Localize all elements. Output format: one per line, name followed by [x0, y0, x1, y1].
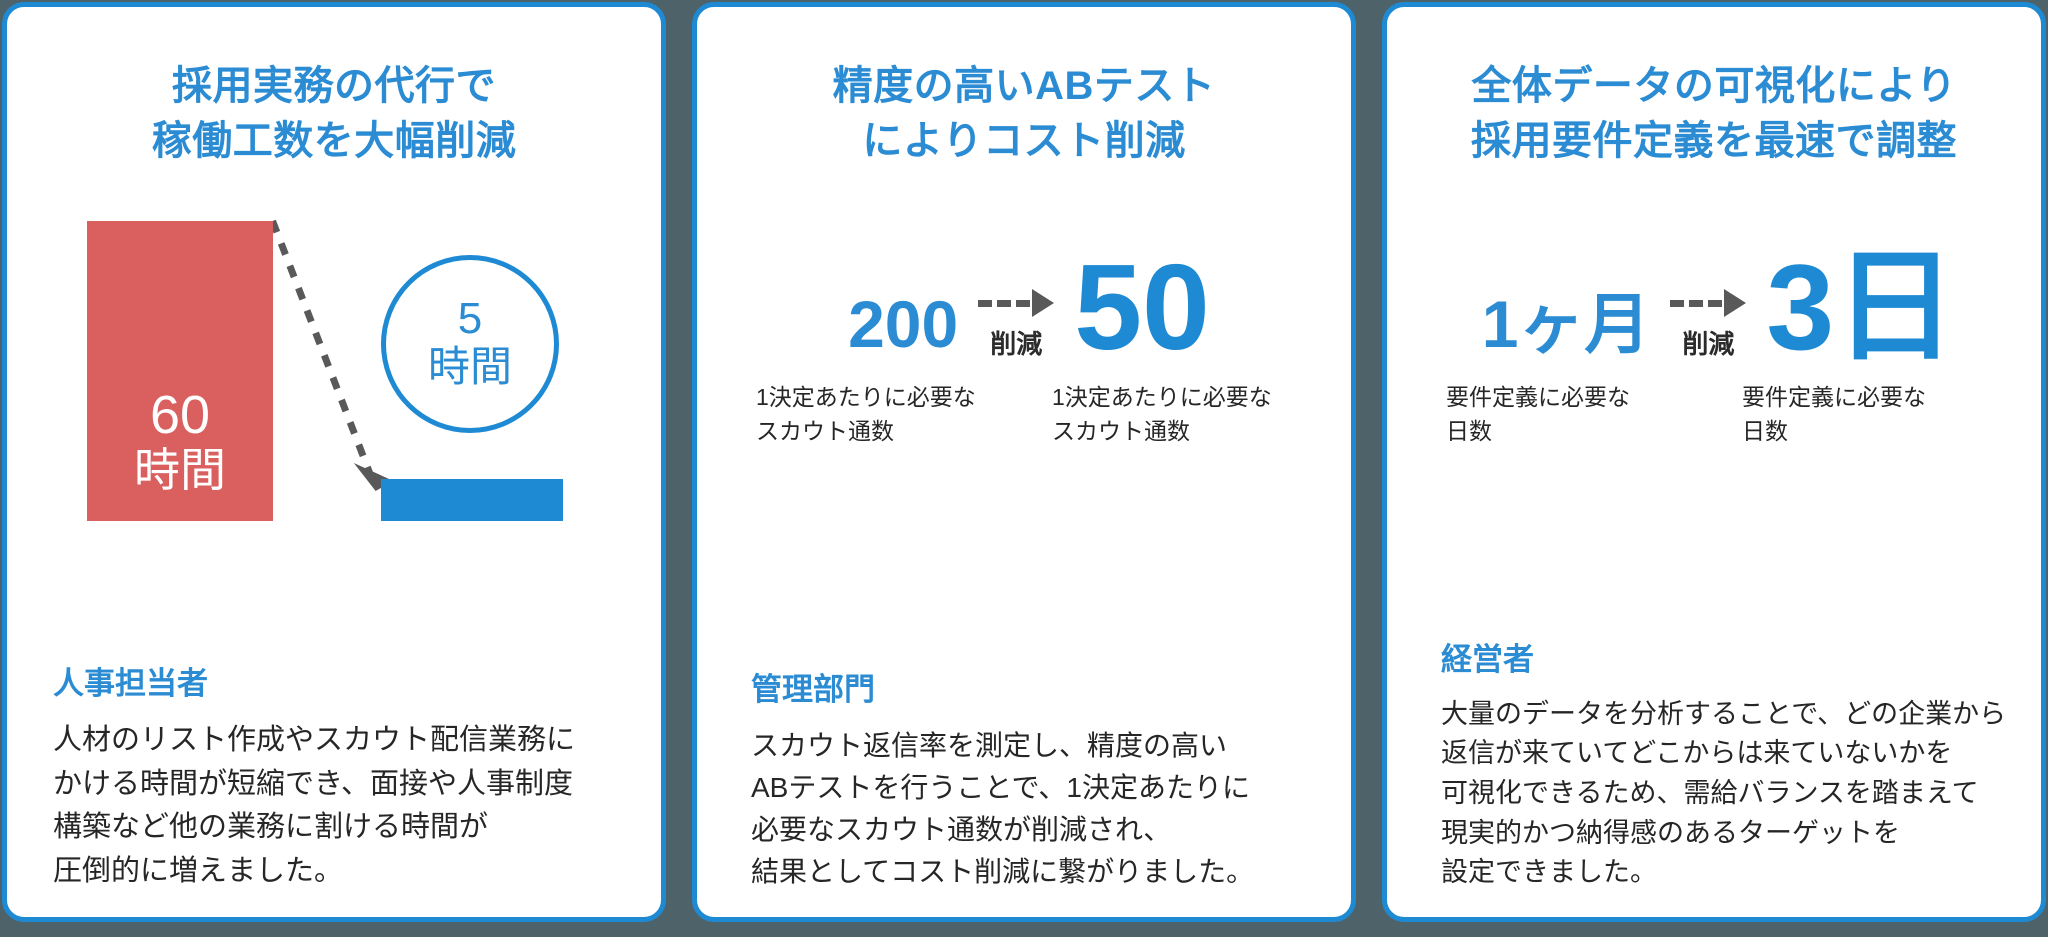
before-unit: 時間 [134, 442, 226, 500]
card-footer: 管理部門 スカウト返信率を測定し、精度の高い ABテストを行うことで、1決定あた… [751, 664, 1321, 893]
stat-row: 200 削減 50 [697, 213, 1351, 363]
benefit-card-admin: 精度の高いABテスト によりコスト削減 200 削減 50 1決定あたりに必要な… [692, 2, 1356, 922]
before-value: 60 [150, 388, 210, 442]
testimonial-text: スカウト返信率を測定し、精度の高い ABテストを行うことで、1決定あたりに 必要… [751, 725, 1321, 893]
role-label: 経営者 [1441, 634, 2011, 679]
after-circle: 5 時間 [381, 255, 559, 433]
benefit-card-hr: 採用実務の代行で 稼働工数を大幅削減 60 時間 5 時間 人事担当者 人材のリ… [2, 2, 666, 922]
card-footer: 経営者 大量のデータを分析することで、どの企業から 返信が来ていてどこからは来て… [1441, 634, 2011, 893]
after-bar [381, 479, 563, 521]
dashed-arrow-icon [978, 288, 1054, 318]
after-value: 5 [458, 296, 482, 342]
caption-row: 1決定あたりに必要な スカウト通数 1決定あたりに必要な スカウト通数 [697, 381, 1351, 448]
role-label: 管理部門 [751, 664, 1321, 709]
arrow-label: 削減 [990, 324, 1042, 361]
before-bar: 60 時間 [87, 221, 273, 521]
reduction-arrow: 削減 [958, 288, 1074, 363]
stat-before-value: 200 [848, 291, 958, 363]
hours-reduction-chart: 60 時間 5 時間 [7, 191, 661, 571]
card-footer: 人事担当者 人材のリスト作成やスカウト配信業務に かける時間が短縮でき、面接や人… [53, 658, 631, 893]
testimonial-text: 人材のリスト作成やスカウト配信業務に かける時間が短縮でき、面接や人事制度 構築… [53, 719, 631, 893]
after-unit: 時間 [428, 342, 512, 392]
comparison-cards-board: 採用実務の代行で 稼働工数を大幅削減 60 時間 5 時間 人事担当者 人材のリ… [0, 0, 2048, 937]
role-label: 人事担当者 [53, 658, 631, 703]
stat-before-value: 1ヶ月 [1482, 291, 1651, 363]
arrow-label: 削減 [1682, 324, 1734, 361]
caption-before: 要件定義に必要な 日数 [1446, 381, 1696, 448]
caption-after: 1決定あたりに必要な スカウト通数 [1052, 381, 1302, 448]
stat-row: 1ヶ月 削減 3日 [1387, 213, 2041, 363]
card-title: 採用実務の代行で 稼働工数を大幅削減 [7, 59, 661, 169]
scout-count-stat: 200 削減 50 1決定あたりに必要な スカウト通数 1決定あたりに必要な ス… [697, 213, 1351, 513]
card-title: 全体データの可視化により 採用要件定義を最速で調整 [1387, 59, 2041, 169]
caption-row: 要件定義に必要な 日数 要件定義に必要な 日数 [1387, 381, 2041, 448]
requirement-days-stat: 1ヶ月 削減 3日 要件定義に必要な 日数 要件定義に必要な 日数 [1387, 213, 2041, 513]
testimonial-text: 大量のデータを分析することで、どの企業から 返信が来ていてどこからは来ていないか… [1441, 695, 2011, 893]
caption-after: 要件定義に必要な 日数 [1742, 381, 1992, 448]
caption-before: 1決定あたりに必要な スカウト通数 [756, 381, 1006, 448]
reduction-arrow: 削減 [1650, 288, 1766, 363]
stat-after-value: 50 [1074, 251, 1210, 363]
stat-after-value: 3日 [1766, 251, 1956, 363]
benefit-card-executive: 全体データの可視化により 採用要件定義を最速で調整 1ヶ月 削減 3日 要件定義… [1382, 2, 2046, 922]
card-title: 精度の高いABテスト によりコスト削減 [697, 59, 1351, 169]
dashed-arrow-icon [1670, 288, 1746, 318]
